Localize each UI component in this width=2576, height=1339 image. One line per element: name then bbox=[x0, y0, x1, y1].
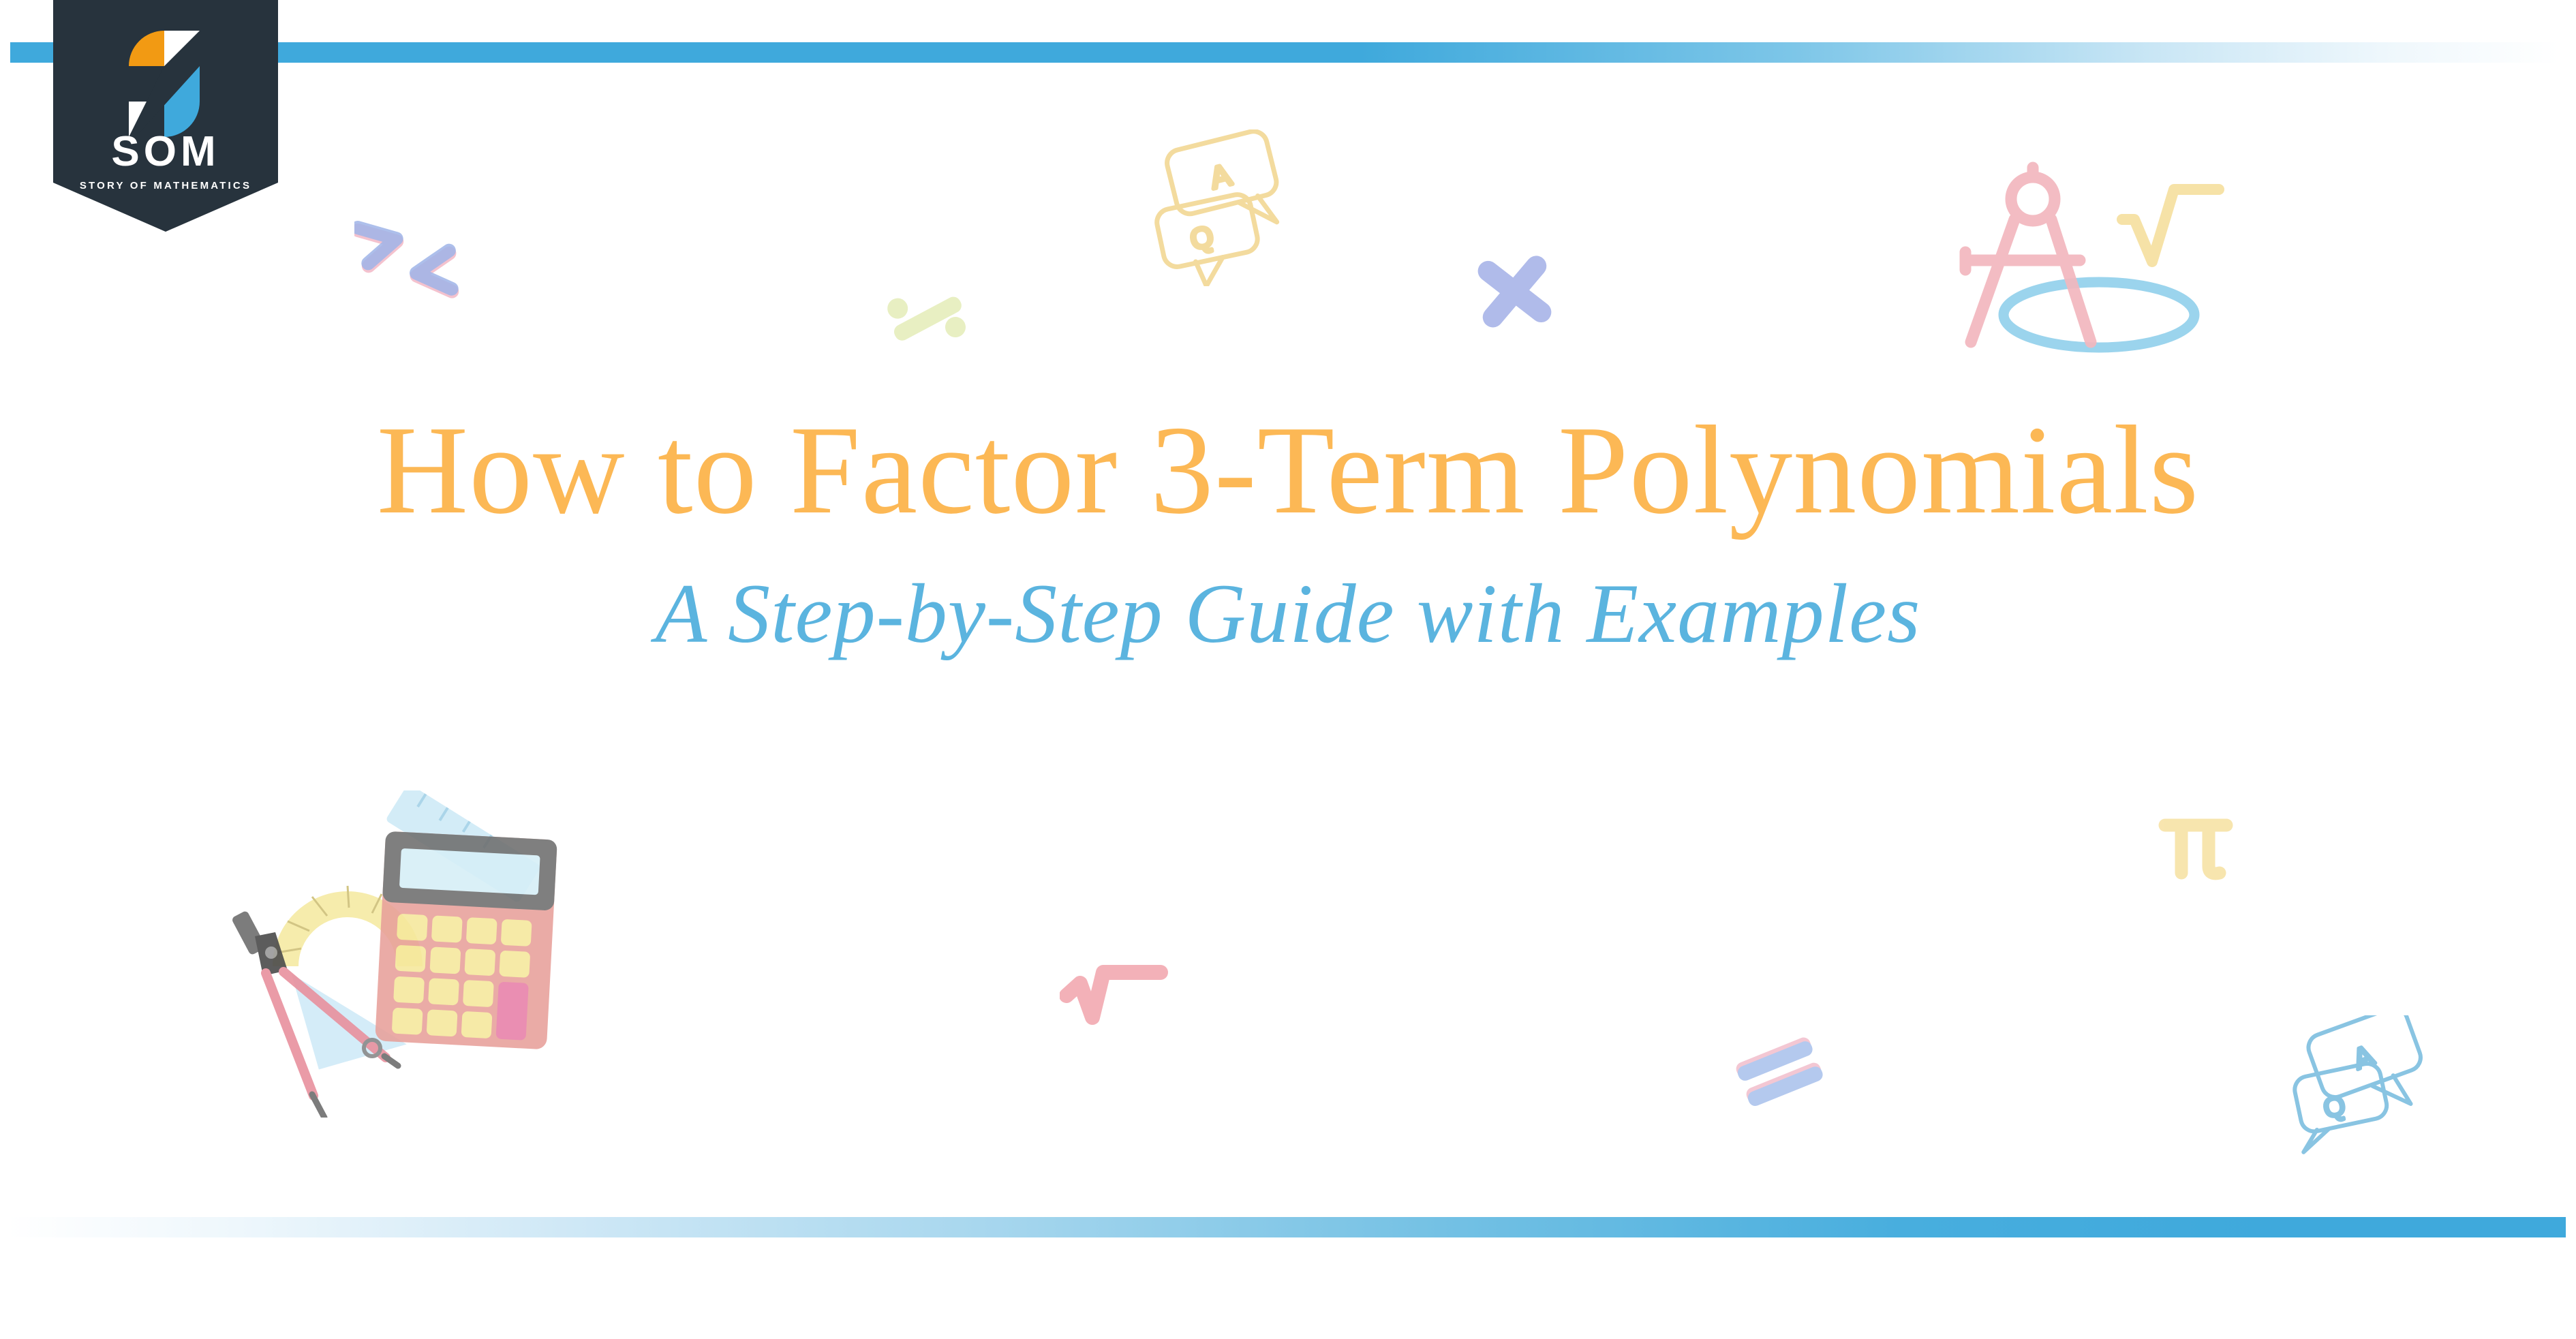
logo-wordmark: SOM bbox=[111, 128, 219, 175]
svg-text:A: A bbox=[2349, 1038, 2378, 1075]
equals-sign-icon bbox=[1731, 1026, 1826, 1114]
division-sign-icon bbox=[879, 273, 975, 361]
svg-text:A: A bbox=[1207, 158, 1235, 196]
page-subtitle: A Step-by-Step Guide with Examples bbox=[0, 568, 2576, 660]
qa-speech-bubbles-icon: A Q bbox=[2286, 1015, 2443, 1158]
logo-tagline: STORY OF MATHEMATICS bbox=[80, 180, 251, 191]
multiplication-sign-icon bbox=[1475, 253, 1554, 330]
square-root-sign-icon bbox=[1060, 957, 1169, 1046]
pi-sign-icon bbox=[2157, 807, 2239, 893]
qa-speech-bubbles-icon: A Q bbox=[1152, 129, 1295, 286]
hero-text-block: How to Factor 3-Term Polynomials A Step-… bbox=[0, 402, 2576, 660]
drafting-tools-icon bbox=[225, 790, 566, 1118]
som-shield-logo[interactable]: SOM STORY OF MATHEMATICS bbox=[53, 0, 278, 232]
bottom-accent-rule bbox=[7, 1217, 2566, 1237]
compass-and-square-root-icon bbox=[1956, 157, 2242, 382]
page-title: How to Factor 3-Term Polynomials bbox=[0, 402, 2576, 539]
hero-banner: SOM STORY OF MATHEMATICS bbox=[0, 0, 2576, 1339]
greater-less-than-icon bbox=[354, 211, 463, 307]
svg-text:Q: Q bbox=[1188, 220, 1216, 256]
top-accent-rule bbox=[10, 42, 2559, 63]
